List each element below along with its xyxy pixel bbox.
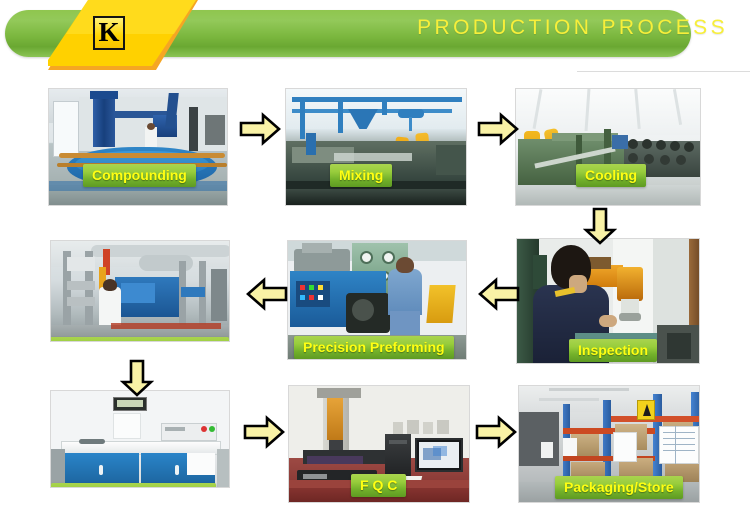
arrow-right-icon	[238, 112, 282, 146]
step-label-trimming-automatical: Trimming Automatical	[51, 483, 216, 488]
arrow-down-injection-to-trimming	[120, 358, 154, 398]
arrow-right-fqc-to-packaging	[474, 415, 518, 449]
arrow-left-inspection-to-preforming	[477, 277, 521, 311]
arrow-right-trimming-to-fqc	[242, 415, 286, 449]
step-label-mixing: Mixing	[330, 164, 392, 187]
arrow-left-icon	[245, 277, 289, 311]
arrow-right-icon	[476, 112, 520, 146]
step-card-injection-compression[interactable]: Injection & compression	[50, 240, 230, 342]
step-card-precision-preforming[interactable]: Precision Preforming	[287, 240, 467, 360]
arrow-left-icon	[477, 277, 521, 311]
arrow-down-icon	[120, 358, 154, 398]
step-card-compounding[interactable]: Compounding	[48, 88, 228, 206]
arrow-right-compounding-to-mixing	[238, 112, 282, 146]
arrow-down-icon	[583, 206, 617, 246]
photo-injection-compression	[51, 241, 229, 341]
production-process-page: PRODUCTION PROCESS K	[0, 0, 750, 527]
logo-letter: K	[98, 19, 119, 46]
arrow-right-icon	[242, 415, 286, 449]
step-card-fqc[interactable]: F Q C	[288, 385, 470, 503]
header-banner: PRODUCTION PROCESS K	[0, 0, 750, 70]
step-label-fqc: F Q C	[351, 474, 406, 497]
page-title: PRODUCTION PROCESS	[417, 16, 728, 40]
step-label-packaging-store: Packaging/Store	[555, 476, 683, 499]
header-divider	[577, 71, 750, 72]
step-label-cooling: Cooling	[576, 164, 646, 187]
step-card-cooling[interactable]: Cooling	[515, 88, 701, 206]
arrow-right-icon	[474, 415, 518, 449]
photo-trimming-automatical	[51, 391, 229, 487]
step-label-compounding: Compounding	[83, 164, 196, 187]
step-label-inspection: Inspection	[569, 339, 657, 362]
arrow-down-cooling-to-inspection	[583, 206, 617, 246]
photo-cooling	[516, 89, 700, 205]
step-card-inspection[interactable]: Inspection	[516, 238, 700, 364]
arrow-right-mixing-to-cooling	[476, 112, 520, 146]
arrow-left-preforming-to-injection	[245, 277, 289, 311]
step-label-injection-compression: Injection & compression	[50, 337, 229, 342]
step-label-precision-preforming: Precision Preforming	[294, 336, 454, 359]
logo-box: K	[93, 16, 125, 50]
photo-mixing	[286, 89, 466, 205]
step-card-trimming-automatical[interactable]: Trimming Automatical	[50, 390, 230, 488]
step-card-mixing[interactable]: Mixing	[285, 88, 467, 206]
photo-compounding	[49, 89, 227, 205]
step-card-packaging-store[interactable]: Packaging/Store	[518, 385, 700, 503]
